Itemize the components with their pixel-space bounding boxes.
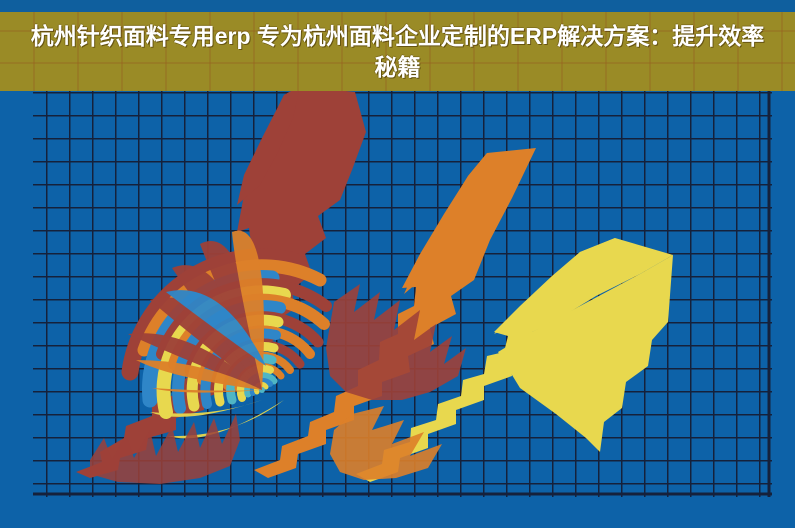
top-accent-strip — [0, 0, 795, 12]
page-title: 杭州针织面料专用erp 专为杭州面料企业定制的ERP解决方案：提升效率秘籍 — [20, 21, 776, 82]
header-band: 杭州针织面料专用erp 专为杭州面料企业定制的ERP解决方案：提升效率秘籍 — [0, 12, 795, 91]
hero-banner: 杭州针织面料专用erp 专为杭州面料企业定制的ERP解决方案：提升效率秘籍 — [0, 0, 795, 528]
